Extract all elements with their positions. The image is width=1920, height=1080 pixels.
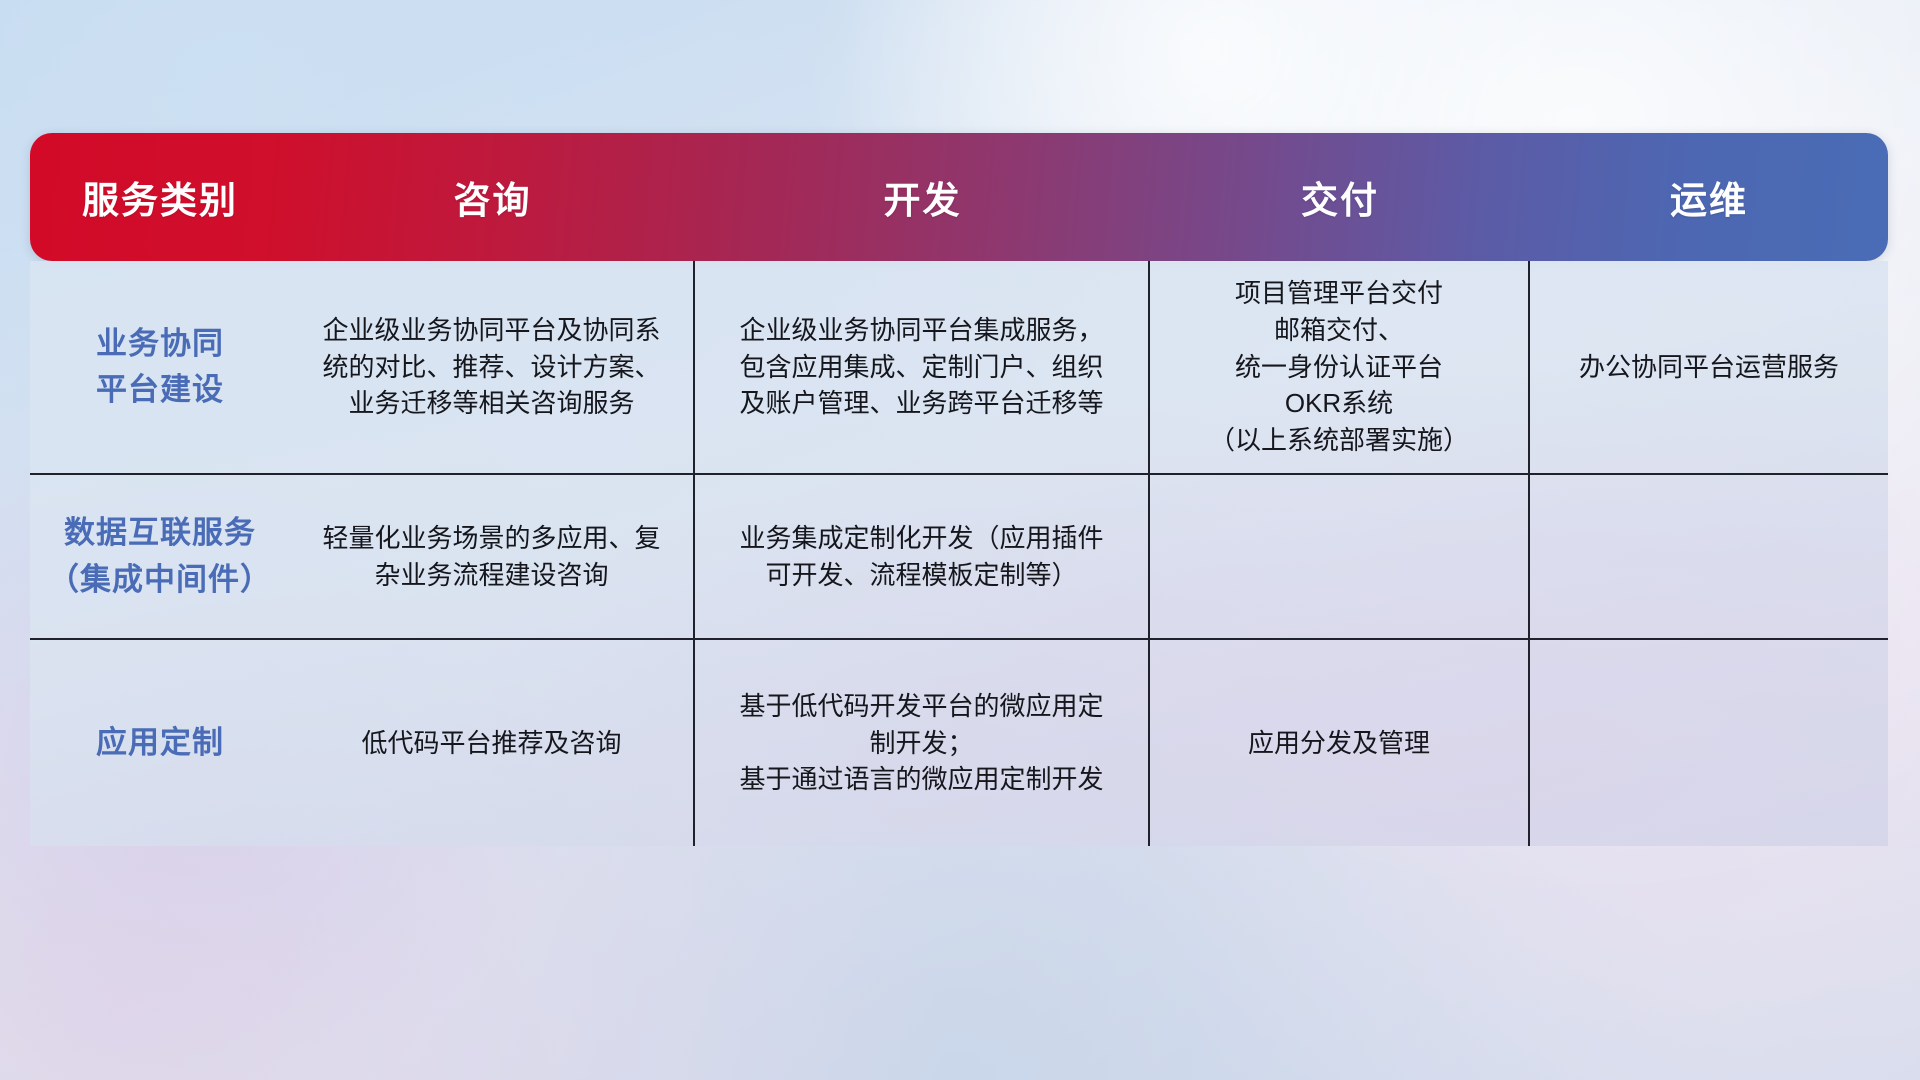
table-row: 数据互联服务 （集成中间件） 轻量化业务场景的多应用、复 杂业务流程建设咨询 业…: [30, 473, 1888, 638]
cell-delivery: 应用分发及管理: [1150, 640, 1530, 846]
cell-delivery: [1150, 475, 1530, 638]
cell-consulting: 低代码平台推荐及咨询: [290, 640, 695, 846]
table-header-cell-category[interactable]: 服务类别: [30, 133, 290, 261]
table-header-cell-consulting[interactable]: 咨询: [290, 133, 695, 261]
cell-development: 业务集成定制化开发（应用插件 可开发、流程模板定制等）: [695, 475, 1150, 638]
row-label-cell: 应用定制: [30, 640, 290, 846]
table-header-row: 服务类别 咨询 开发 交付 运维: [30, 133, 1888, 261]
table-header-cell-operations[interactable]: 运维: [1530, 133, 1888, 261]
row-label-cell: 业务协同 平台建设: [30, 261, 290, 473]
cell-development: 基于低代码开发平台的微应用定 制开发； 基于通过语言的微应用定制开发: [695, 640, 1150, 846]
slide-canvas: 服务类别 咨询 开发 交付 运维 业务协同 平台建设 企业级业务协同平台及协同系…: [0, 0, 1920, 1080]
cell-delivery: 项目管理平台交付 邮箱交付、 统一身份认证平台 OKR系统 （以上系统部署实施）: [1150, 261, 1530, 473]
row-label-cell: 数据互联服务 （集成中间件）: [30, 475, 290, 638]
table-row: 应用定制 低代码平台推荐及咨询 基于低代码开发平台的微应用定 制开发； 基于通过…: [30, 638, 1888, 846]
table-body: 业务协同 平台建设 企业级业务协同平台及协同系 统的对比、推荐、设计方案、 业务…: [30, 261, 1888, 846]
cell-development: 企业级业务协同平台集成服务， 包含应用集成、定制门户、组织 及账户管理、业务跨平…: [695, 261, 1150, 473]
cell-operations: [1530, 640, 1888, 846]
cell-consulting: 企业级业务协同平台及协同系 统的对比、推荐、设计方案、 业务迁移等相关咨询服务: [290, 261, 695, 473]
service-matrix-table: 服务类别 咨询 开发 交付 运维 业务协同 平台建设 企业级业务协同平台及协同系…: [30, 133, 1888, 846]
table-header-cell-development[interactable]: 开发: [695, 133, 1150, 261]
cell-operations: [1530, 475, 1888, 638]
cell-consulting: 轻量化业务场景的多应用、复 杂业务流程建设咨询: [290, 475, 695, 638]
table-row: 业务协同 平台建设 企业级业务协同平台及协同系 统的对比、推荐、设计方案、 业务…: [30, 261, 1888, 473]
cell-operations: 办公协同平台运营服务: [1530, 261, 1888, 473]
table-header-cell-delivery[interactable]: 交付: [1150, 133, 1530, 261]
